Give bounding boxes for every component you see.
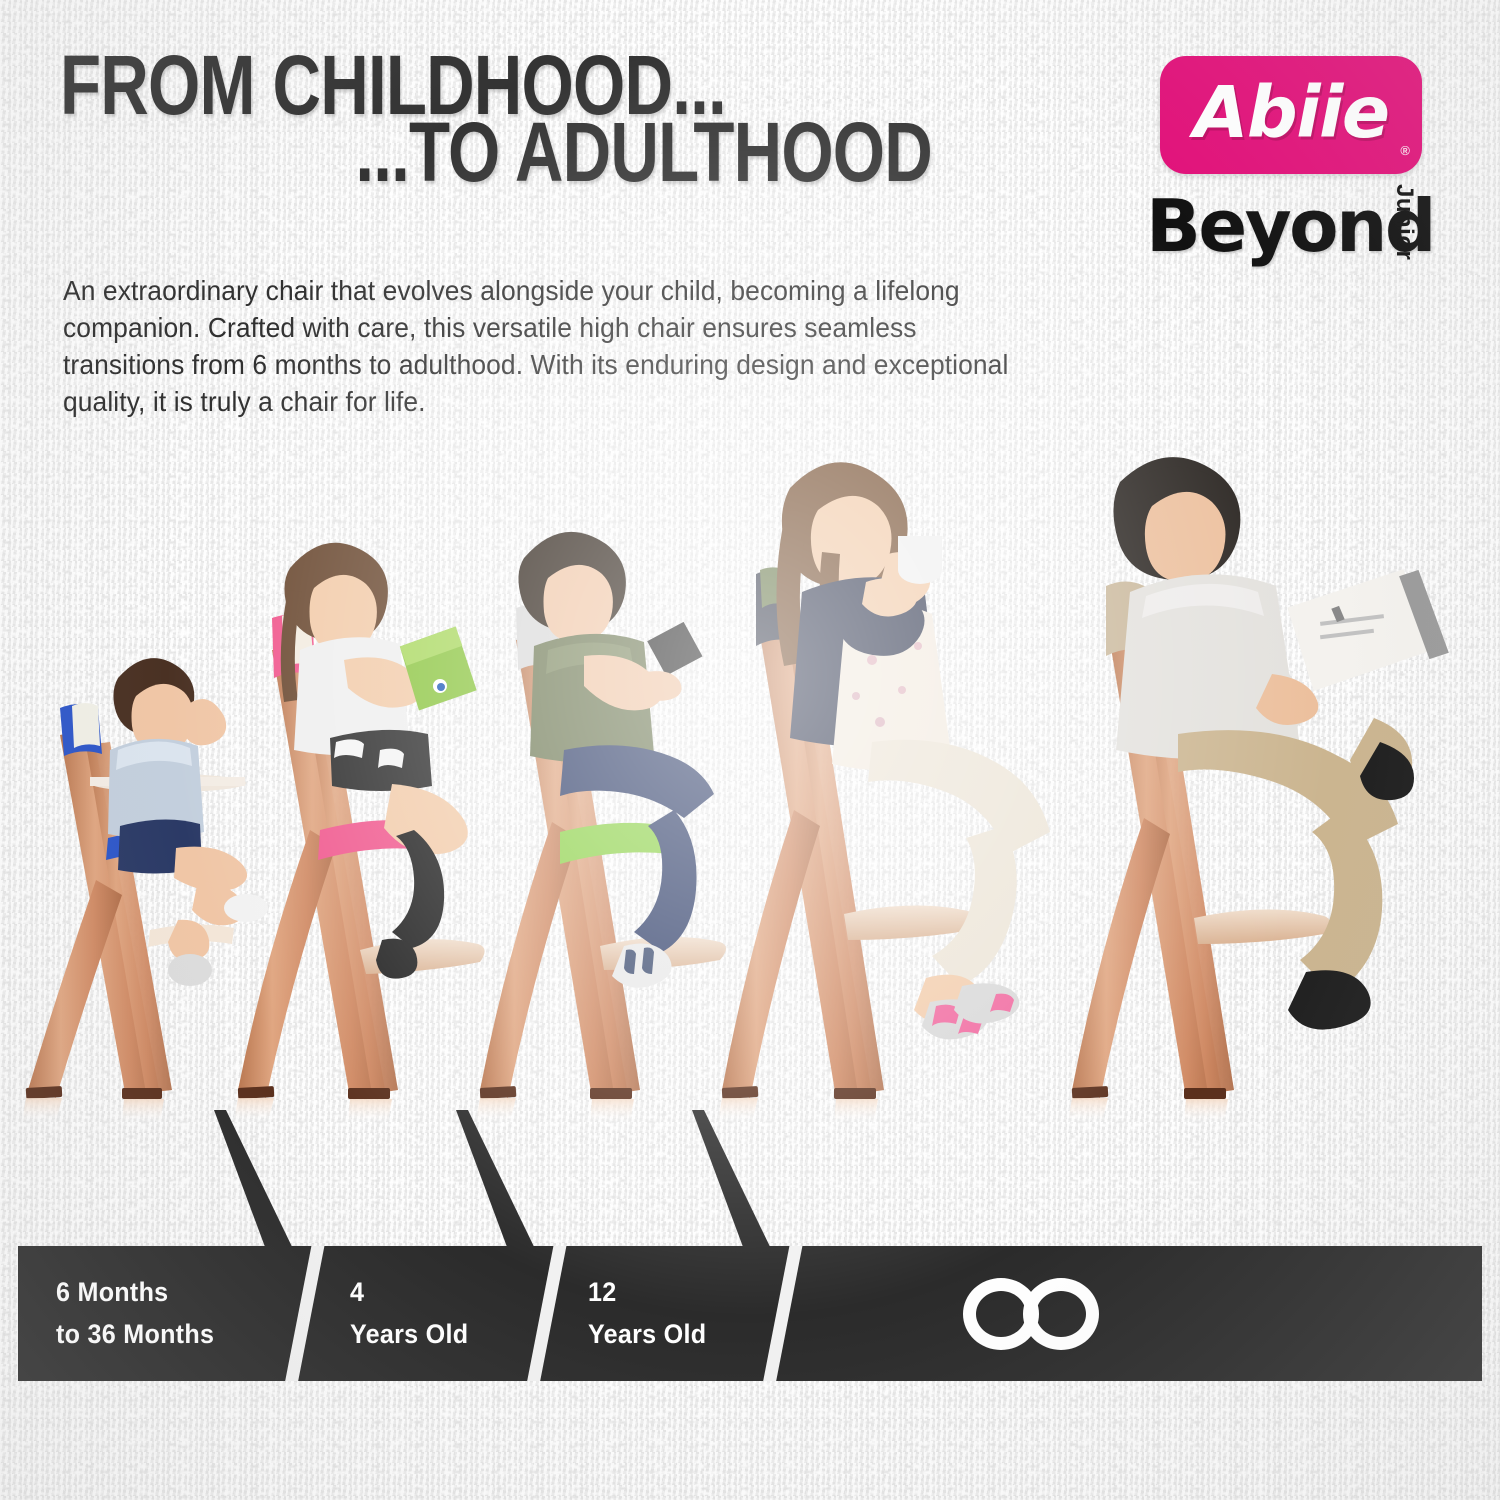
chair-figure-boy	[476, 532, 726, 1123]
brand-badge: Abiie ®	[1160, 56, 1422, 174]
bar-divider-2	[524, 1246, 569, 1381]
age-stage-1: 4 Years Old	[350, 1246, 477, 1381]
infinity-icon	[963, 1278, 1099, 1350]
bar-divider-3	[760, 1246, 805, 1381]
age-stage-0-line1: 6 Months	[56, 1272, 214, 1313]
age-stage-1-line1: 4	[350, 1272, 468, 1313]
bar-divider-1	[282, 1246, 327, 1381]
age-stage-0-line2: to 36 Months	[56, 1314, 214, 1355]
chair-figure-woman	[718, 462, 1050, 1123]
age-stage-1-line2: Years Old	[350, 1314, 468, 1355]
stage-connector-lines	[0, 1110, 1500, 1255]
connector-wedge-3	[692, 1110, 774, 1255]
description-paragraph: An extraordinary chair that evolves alon…	[63, 272, 1033, 421]
age-range-bar: 6 Months to 36 Months 4 Years Old 12 Yea…	[18, 1246, 1482, 1381]
brand-logo: Abiie ® Beyond Junior	[1146, 56, 1476, 271]
age-stage-0: 6 Months to 36 Months	[56, 1246, 226, 1381]
product-infographic: FROM CHILDHOOD... ...TO ADULTHOOD An ext…	[0, 0, 1500, 1500]
age-stage-2-line2: Years Old	[588, 1314, 706, 1355]
growth-stage-illustration	[0, 450, 1500, 1140]
registered-trademark-icon: ®	[1400, 143, 1410, 158]
connector-wedge-1	[214, 1110, 296, 1255]
chairs-and-people-graphic	[0, 450, 1500, 1140]
age-stage-2-line1: 12	[588, 1272, 706, 1313]
product-tier-name: Junior	[1390, 184, 1418, 260]
chair-figure-man	[1068, 457, 1449, 1123]
page-title: FROM CHILDHOOD... ...TO ADULTHOOD	[60, 52, 860, 186]
connector-wedge-2	[456, 1110, 538, 1255]
age-stage-2: 12 Years Old	[588, 1246, 715, 1381]
brand-wordmark: Abiie	[1160, 56, 1422, 174]
chair-figure-toddler	[22, 658, 268, 1123]
chair-figure-young-girl	[234, 543, 485, 1123]
infinity-ring-right	[1023, 1278, 1099, 1350]
